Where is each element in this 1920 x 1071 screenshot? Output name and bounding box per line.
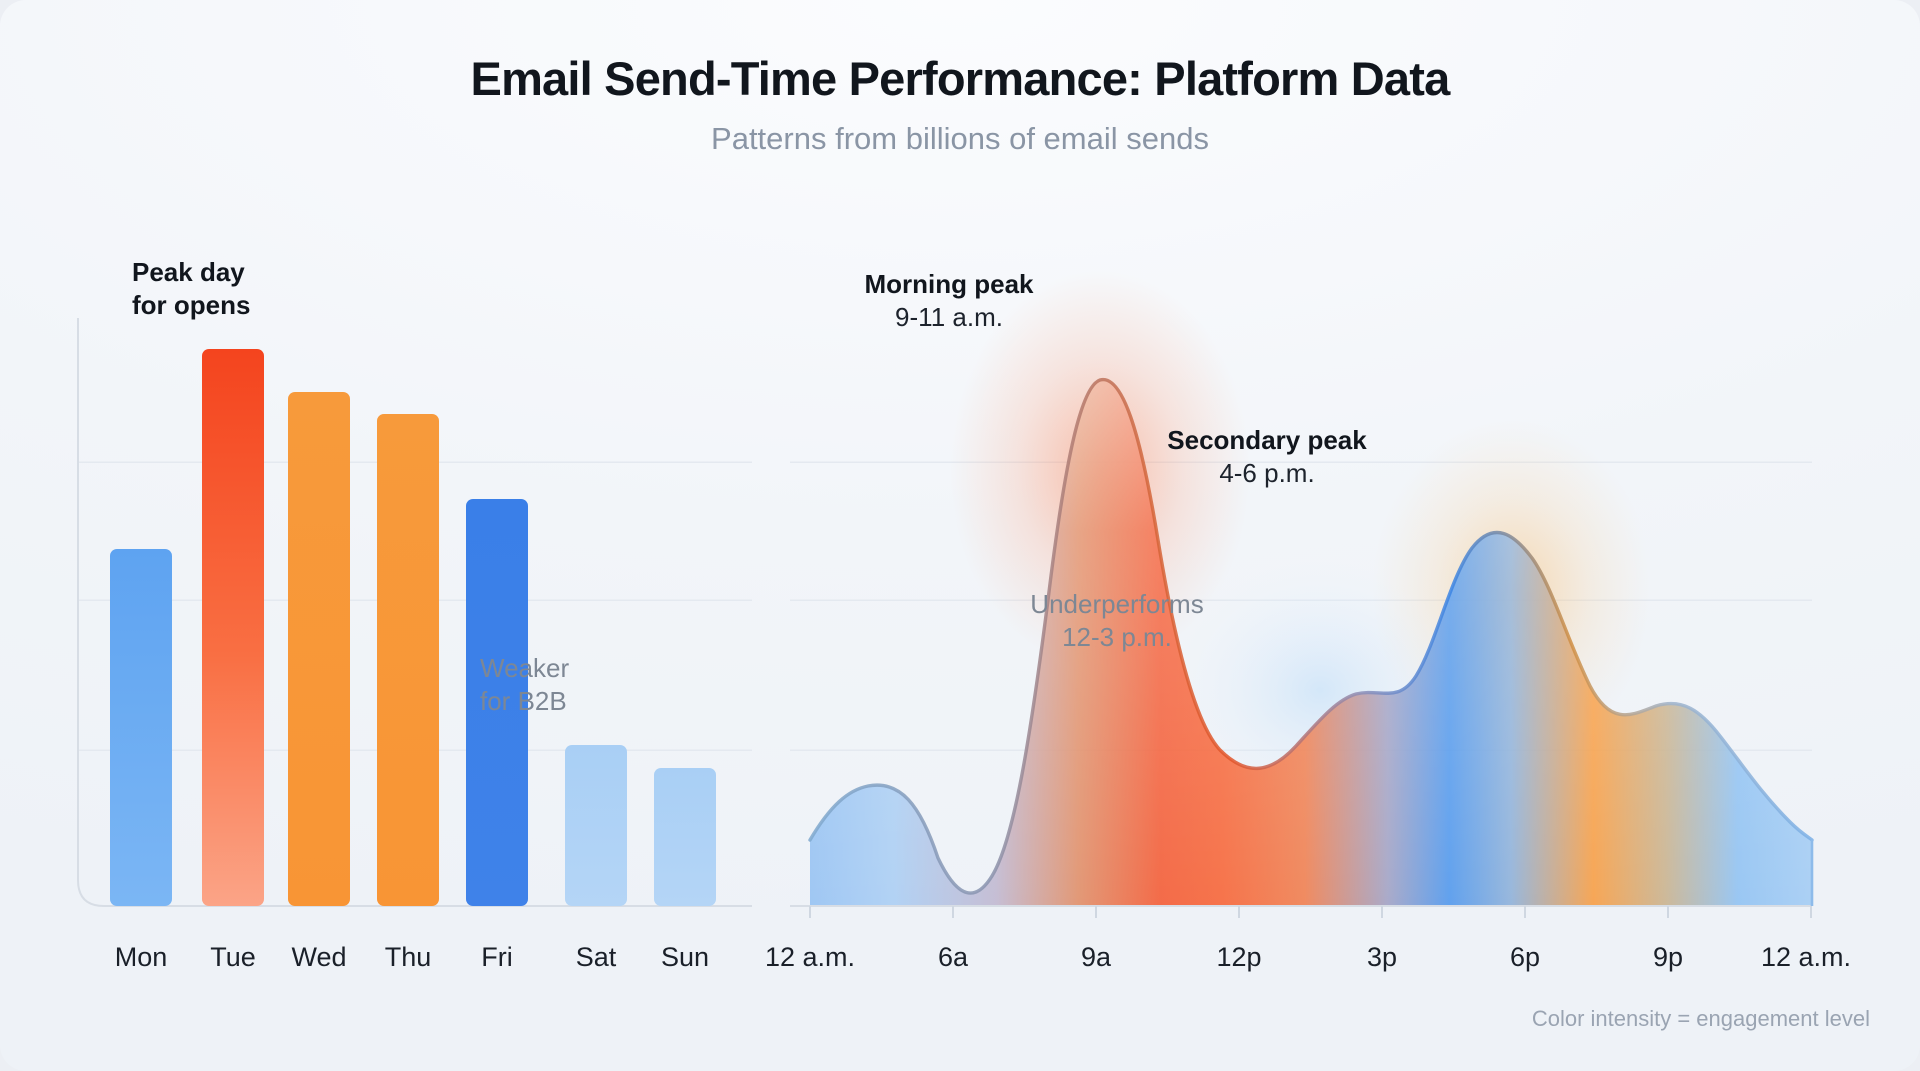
time-tick-12am-end: 12 a.m. <box>1761 942 1851 973</box>
bar-tick-thu: Thu <box>385 942 432 973</box>
time-tick-3p: 3p <box>1367 942 1397 973</box>
bar-tick-sun: Sun <box>661 942 709 973</box>
annotation-morning-peak-line2: 9-11 a.m. <box>824 301 1074 334</box>
annotation-peak-day-line2: for opens <box>132 289 250 322</box>
bar-tue[interactable] <box>202 349 264 906</box>
bar-tick-wed: Wed <box>291 942 346 973</box>
bar-tick-fri: Fri <box>481 942 512 973</box>
time-tick-9a: 9a <box>1081 942 1111 973</box>
time-tick-6p: 6p <box>1510 942 1540 973</box>
bar-chart-group <box>78 318 752 906</box>
area-chart-group <box>790 270 1820 918</box>
annotation-morning-peak-line1: Morning peak <box>824 268 1074 301</box>
chart-canvas: Email Send-Time Performance: Platform Da… <box>0 0 1920 1071</box>
annotation-peak-day-line1: Peak day <box>132 256 250 289</box>
annotation-secondary-peak-line2: 4-6 p.m. <box>1142 457 1392 490</box>
annotation-weaker-b2b-line1: Weaker <box>480 652 569 685</box>
chart-plot-area <box>0 0 1920 1071</box>
bar-wed[interactable] <box>288 392 350 906</box>
bar-mon[interactable] <box>110 549 172 906</box>
bar-sun[interactable] <box>654 768 716 906</box>
time-tick-6a: 6a <box>938 942 968 973</box>
bar-tick-tue: Tue <box>210 942 256 973</box>
annotation-underperforms-line2: 12-3 p.m. <box>1002 621 1232 654</box>
bar-sat[interactable] <box>565 745 627 906</box>
chart-svg <box>0 0 1920 1071</box>
annotation-weaker-b2b: Weaker for B2B <box>480 652 569 718</box>
bar-thu[interactable] <box>377 414 439 906</box>
annotation-secondary-peak: Secondary peak 4-6 p.m. <box>1142 424 1392 490</box>
annotation-weaker-b2b-line2: for B2B <box>480 685 569 718</box>
bar-tick-mon: Mon <box>115 942 168 973</box>
annotation-peak-day: Peak day for opens <box>132 256 250 322</box>
time-tick-12p: 12p <box>1216 942 1261 973</box>
time-tick-9p: 9p <box>1653 942 1683 973</box>
time-tick-12am-start: 12 a.m. <box>765 942 855 973</box>
bar-tick-sat: Sat <box>576 942 617 973</box>
annotation-secondary-peak-line1: Secondary peak <box>1142 424 1392 457</box>
annotation-morning-peak: Morning peak 9-11 a.m. <box>824 268 1074 334</box>
annotation-underperforms: Underperforms 12-3 p.m. <box>1002 588 1232 654</box>
chart-footnote: Color intensity = engagement level <box>1532 1006 1870 1032</box>
area-chart-ticks <box>810 906 1811 918</box>
annotation-underperforms-line1: Underperforms <box>1002 588 1232 621</box>
